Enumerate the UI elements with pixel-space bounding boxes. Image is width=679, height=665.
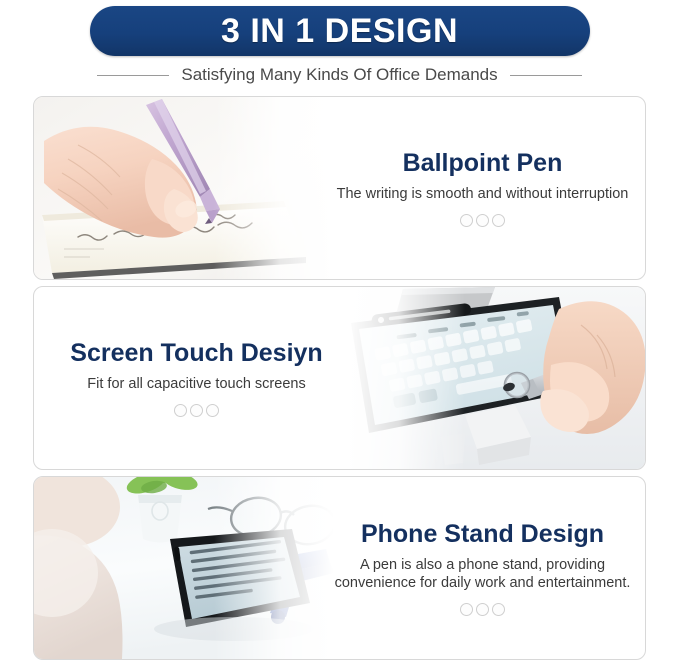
card-title: Screen Touch Desiyn	[70, 339, 322, 368]
card-title: Phone Stand Design	[361, 520, 604, 549]
phone-stand-desk-illustration	[34, 477, 334, 659]
feature-card-list: Ballpoint Pen The writing is smooth and …	[0, 96, 679, 660]
feature-card-screen-touch: Screen Touch Desiyn Fit for all capaciti…	[33, 286, 646, 470]
page-header: 3 IN 1 DESIGN Satisfying Many Kinds Of O…	[0, 0, 679, 85]
dot	[476, 603, 489, 616]
dot-ornament	[174, 404, 219, 417]
photo-screen-touch	[345, 287, 645, 469]
photo-phone-stand	[34, 477, 334, 659]
card-text-ballpoint-pen: Ballpoint Pen The writing is smooth and …	[320, 97, 645, 279]
card-subtitle: The writing is smooth and without interr…	[337, 185, 629, 204]
card-text-phone-stand: Phone Stand Design A pen is also a phone…	[320, 477, 645, 659]
tagline: Satisfying Many Kinds Of Office Demands	[181, 65, 497, 85]
tagline-rule-right	[510, 75, 582, 76]
dot-ornament	[460, 603, 505, 616]
stylus-on-phone-illustration	[345, 287, 645, 469]
writing-hand-illustration	[34, 97, 334, 279]
dot	[460, 603, 473, 616]
photo-ballpoint-pen	[34, 97, 334, 279]
dot	[492, 603, 505, 616]
card-text-screen-touch: Screen Touch Desiyn Fit for all capaciti…	[34, 287, 359, 469]
banner-title: 3 IN 1 DESIGN	[221, 14, 458, 48]
feature-card-phone-stand: Phone Stand Design A pen is also a phone…	[33, 476, 646, 660]
card-subtitle: Fit for all capacitive touch screens	[87, 375, 305, 394]
dot-ornament	[460, 214, 505, 227]
tagline-rule-left	[97, 75, 169, 76]
dot	[190, 404, 203, 417]
dot	[492, 214, 505, 227]
banner: 3 IN 1 DESIGN	[90, 6, 590, 56]
dot	[174, 404, 187, 417]
feature-card-ballpoint-pen: Ballpoint Pen The writing is smooth and …	[33, 96, 646, 280]
tagline-row: Satisfying Many Kinds Of Office Demands	[60, 65, 620, 85]
card-subtitle: A pen is also a phone stand, providing c…	[333, 556, 633, 593]
dot	[206, 404, 219, 417]
dot	[476, 214, 489, 227]
card-title: Ballpoint Pen	[403, 149, 563, 178]
dot	[460, 214, 473, 227]
